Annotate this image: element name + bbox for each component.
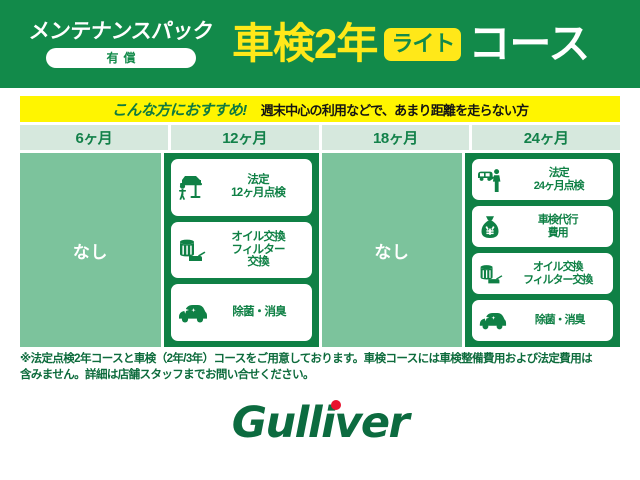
none-label-6m: なし <box>73 238 108 263</box>
footnote-line-1: ※法定点検2年コースと車検（2年/3年）コースをご用意しております。車検コースに… <box>20 352 620 368</box>
service-card-text: 車検代行 費用 <box>507 214 608 239</box>
logo-area: Gulliver <box>0 384 640 462</box>
footnote-line-2: 含みません。詳細は店舗スタッフまでお問い合せください。 <box>20 368 620 384</box>
logo-red-dot <box>331 400 341 410</box>
gulliver-logo: Gulliver <box>232 398 409 448</box>
service-card-legal-inspection-12m: 法定 12ヶ月点検 <box>171 159 312 216</box>
column-body-18m: なし <box>322 153 463 347</box>
headline: 車検2年 ライト コース <box>232 23 589 65</box>
headline-light-badge: ライト <box>384 28 461 61</box>
column-body-24m: 法定 24ヶ月点検 <box>465 153 620 347</box>
column-header-18m: 18ヶ月 <box>322 125 470 150</box>
column-header-12m: 12ヶ月 <box>171 125 319 150</box>
footnote: ※法定点検2年コースと車検（2年/3年）コースをご用意しております。車検コースに… <box>0 347 640 384</box>
table-header-row: 6ヶ月 12ヶ月 18ヶ月 24ヶ月 <box>20 125 620 150</box>
service-card-inspection-fee-24m: 車検代行 費用 <box>472 206 613 247</box>
service-card-text: 法定 12ヶ月点検 <box>210 174 307 200</box>
recommendation-bar: こんな方におすすめ! 週末中心の利用などで、あまり距離を走らない方 <box>20 96 620 122</box>
headline-course: コース <box>468 23 589 65</box>
column-header-24m: 24ヶ月 <box>472 125 620 150</box>
column-header-6m: 6ヶ月 <box>20 125 168 150</box>
service-card-text: オイル交換 フィルター交換 <box>507 261 608 286</box>
none-label-18m: なし <box>374 238 409 263</box>
service-card-text: 法定 24ヶ月点検 <box>509 167 608 192</box>
brand-paid-pill: 有償 <box>46 48 196 68</box>
car-inspector-icon <box>477 167 505 193</box>
service-card-text: オイル交換 フィルター 交換 <box>210 231 307 270</box>
oil-filter-icon <box>477 262 503 286</box>
oil-filter-icon <box>176 236 206 264</box>
content-area: こんな方におすすめ! 週末中心の利用などで、あまり距離を走らない方 6ヶ月 12… <box>0 88 640 347</box>
money-bag-yen-icon <box>477 214 503 240</box>
sparkle-car-icon <box>477 311 507 330</box>
gulliver-logo-text: Gulliver <box>232 398 409 448</box>
car-on-lift-icon <box>176 173 206 201</box>
recommendation-lead: こんな方におすすめ! <box>112 99 247 120</box>
brand-block: メンテナンスパック 有償 <box>16 21 226 68</box>
service-card-sanitize-12m: 除菌・消臭 <box>171 284 312 341</box>
service-card-text: 除菌・消臭 <box>511 314 608 326</box>
column-body-12m: 法定 12ヶ月点検 <box>164 153 319 347</box>
column-body-6m: なし <box>20 153 161 347</box>
table-body-row: なし <box>20 153 620 347</box>
recommendation-detail: 週末中心の利用などで、あまり距離を走らない方 <box>261 100 529 119</box>
service-card-text: 除菌・消臭 <box>212 306 307 319</box>
sparkle-car-icon <box>176 303 208 323</box>
service-card-sanitize-24m: 除菌・消臭 <box>472 300 613 341</box>
service-card-oil-change-24m: オイル交換 フィルター交換 <box>472 253 613 294</box>
header-banner: メンテナンスパック 有償 車検2年 ライト コース <box>0 0 640 88</box>
service-card-oil-change-12m: オイル交換 フィルター 交換 <box>171 222 312 279</box>
brand-title: メンテナンスパック <box>28 21 214 42</box>
service-card-legal-inspection-24m: 法定 24ヶ月点検 <box>472 159 613 200</box>
headline-primary: 車検2年 <box>232 23 377 65</box>
